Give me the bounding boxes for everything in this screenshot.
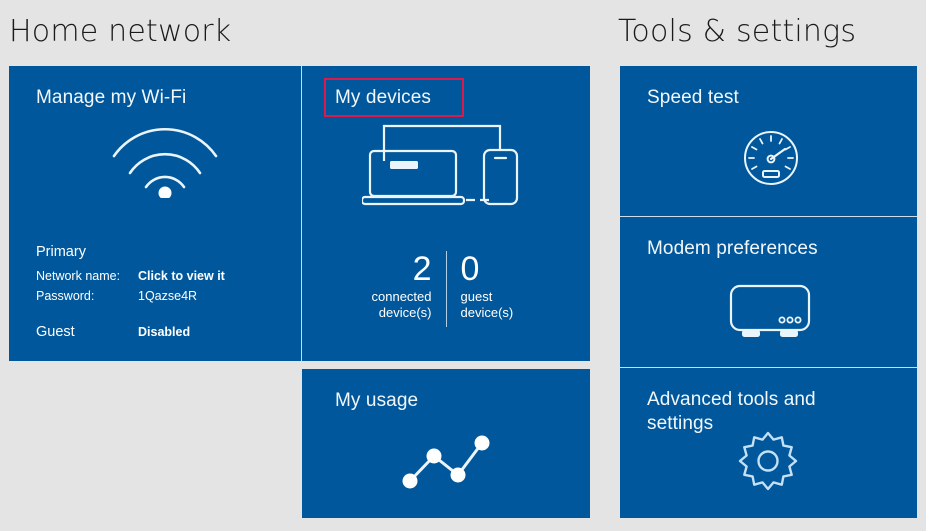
- tile-title-manage-my-wifi: Manage my Wi-Fi: [36, 86, 186, 110]
- tools-settings-tile-group: Speed test: [620, 66, 917, 518]
- dashboard-page: Home network Tools & settings Manage my …: [0, 0, 926, 531]
- connected-devices-label-line1: connected: [372, 289, 432, 305]
- password-row: Password: 1Qazse4R: [36, 286, 286, 306]
- tile-title-my-devices: My devices: [335, 86, 431, 110]
- device-counts-row: 2 connected device(s) 0 guest device(s): [302, 251, 590, 327]
- wifi-icon: [110, 126, 220, 198]
- tile-speed-test[interactable]: Speed test: [620, 66, 917, 216]
- laptop-and-phone-icon: [362, 118, 537, 208]
- modem-icon: [728, 283, 812, 341]
- guest-network-label: Guest: [36, 324, 138, 340]
- guest-devices-label-line1: guest: [461, 289, 493, 305]
- tile-my-devices[interactable]: My devices 2 connected: [302, 66, 590, 361]
- network-name-row: Network name: Click to view it: [36, 266, 286, 286]
- guest-devices-block: 0 guest device(s): [447, 251, 573, 321]
- tile-title-speed-test: Speed test: [647, 86, 739, 110]
- tile-advanced-tools-and-settings[interactable]: Advanced tools and settings: [620, 368, 917, 518]
- network-name-label: Network name:: [36, 266, 138, 286]
- guest-devices-count: 0: [461, 251, 480, 287]
- connected-devices-block: 2 connected device(s): [320, 251, 446, 321]
- password-value: 1Qazse4R: [138, 286, 197, 306]
- guest-devices-label-line2: device(s): [461, 305, 514, 321]
- network-name-value[interactable]: Click to view it: [138, 266, 225, 286]
- connected-devices-count: 2: [413, 251, 432, 287]
- device-counts-divider: [446, 251, 447, 327]
- home-network-tile-group: Manage my Wi-Fi Primary Network name: Cl…: [9, 66, 590, 518]
- guest-network-status: Disabled: [138, 325, 190, 339]
- guest-network-row: Guest Disabled: [36, 324, 286, 340]
- connected-devices-label-line2: device(s): [379, 305, 432, 321]
- line-chart-icon: [400, 431, 492, 493]
- tile-my-usage[interactable]: My usage: [302, 369, 590, 518]
- page-title-tools-settings: Tools & settings: [618, 14, 856, 49]
- primary-network-label: Primary: [36, 244, 286, 260]
- speedometer-icon: [741, 128, 801, 188]
- tile-title-advanced-tools: Advanced tools and settings: [647, 388, 887, 436]
- wifi-network-details: Primary Network name: Click to view it P…: [36, 244, 286, 340]
- tile-manage-my-wifi[interactable]: Manage my Wi-Fi Primary Network name: Cl…: [9, 66, 301, 361]
- password-label: Password:: [36, 286, 138, 306]
- page-title-home-network: Home network: [9, 14, 231, 49]
- tile-title-modem-preferences: Modem preferences: [647, 237, 818, 261]
- gear-icon: [737, 430, 799, 492]
- tile-title-my-usage: My usage: [335, 389, 418, 413]
- tile-modem-preferences[interactable]: Modem preferences: [620, 217, 917, 367]
